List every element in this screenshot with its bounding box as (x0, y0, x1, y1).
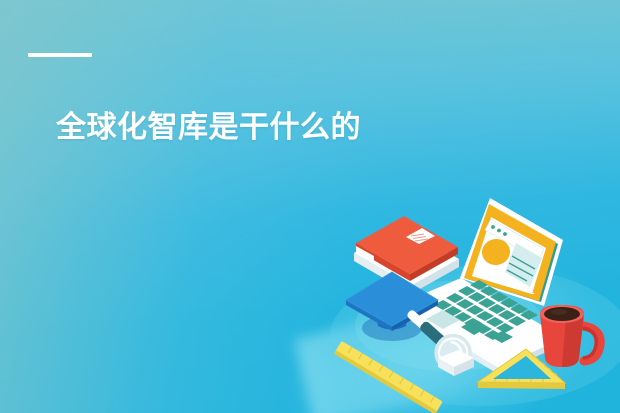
page-title: 全球化智库是干什么的 (56, 108, 576, 147)
title-accent-rule (28, 53, 92, 57)
study-desk-illustration (330, 186, 620, 413)
article-cover: 全球化智库是干什么的 (0, 0, 620, 413)
